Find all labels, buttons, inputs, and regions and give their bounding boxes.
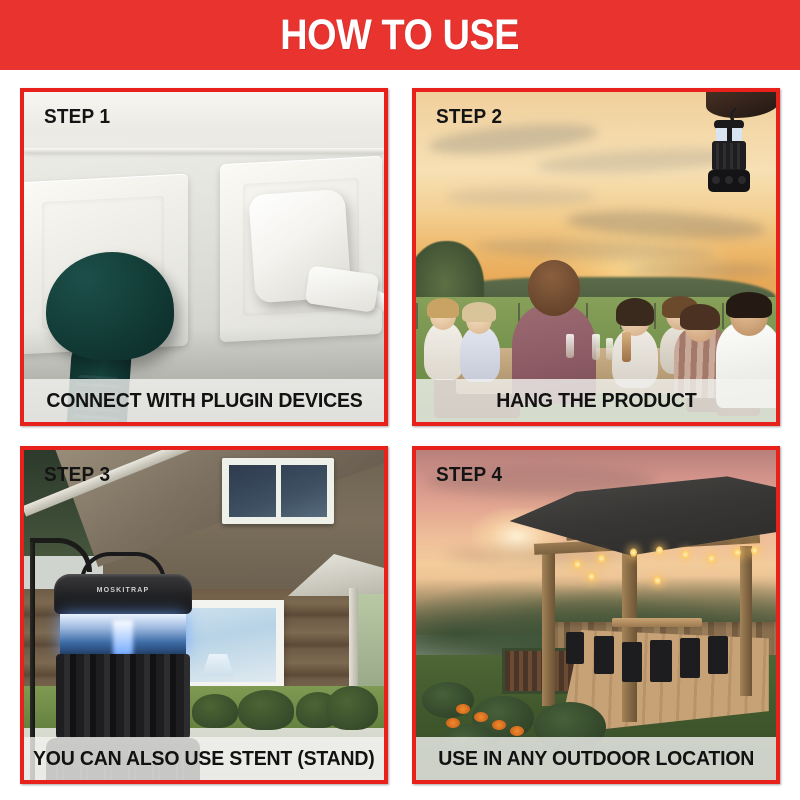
step-3-image: MOSKITRAP [24, 450, 384, 780]
string-light [682, 550, 689, 559]
string-light [751, 546, 758, 555]
bottle [592, 334, 600, 360]
cloud [446, 188, 596, 206]
step-4-image [416, 450, 776, 780]
page-title: HOW TO USE [281, 11, 520, 60]
bottle [566, 334, 574, 358]
flower [456, 704, 470, 714]
bar-stool [650, 640, 672, 682]
infographic-page: HOW TO USE STEP [0, 0, 800, 800]
string-light [588, 572, 595, 581]
string-light [734, 548, 741, 557]
step-3-caption-band: YOU CAN ALSO USE STENT (STAND) [24, 737, 384, 780]
string-light [630, 548, 637, 557]
bar-stool [622, 642, 642, 682]
step-panel-4[interactable]: STEP 4 USE IN ANY OUTDOOR LOCATION [412, 446, 780, 784]
step-4-caption: USE IN ANY OUTDOOR LOCATION [438, 747, 754, 771]
flower [474, 712, 488, 722]
device-body-grille [56, 654, 190, 742]
step-1-label: STEP 1 [44, 106, 110, 129]
string-light [654, 576, 661, 585]
flower [492, 720, 506, 730]
bar-stool [566, 632, 584, 664]
green-plug [46, 252, 174, 360]
person [460, 326, 500, 382]
person [424, 322, 464, 380]
step-1-caption-band: CONNECT WITH PLUGIN DEVICES [24, 379, 384, 422]
person-hair [616, 298, 654, 326]
bar-stool [594, 636, 614, 674]
step-2-label: STEP 2 [436, 106, 502, 129]
uv-lamp-glow [60, 614, 186, 654]
bar-stool [708, 636, 728, 674]
person-hair [462, 302, 496, 322]
bar-table [612, 618, 702, 627]
step-3-caption: YOU CAN ALSO USE STENT (STAND) [33, 747, 375, 771]
bottle [622, 332, 631, 362]
flower [446, 718, 460, 728]
page-header: HOW TO USE [0, 0, 800, 70]
step-panel-2[interactable]: STEP 2 HANG THE PRODUCT [412, 88, 780, 426]
pergola-post [740, 546, 752, 696]
step-1-image [24, 92, 384, 422]
person-hair [427, 298, 459, 318]
person-hair [680, 304, 720, 330]
wall-edge-trim [24, 148, 384, 153]
step-2-image [416, 92, 776, 422]
step-1-caption: CONNECT WITH PLUGIN DEVICES [46, 389, 362, 413]
step-4-label: STEP 4 [436, 464, 502, 487]
person-head [528, 260, 580, 316]
step-2-caption: HANG THE PRODUCT [496, 389, 696, 413]
device-cap: MOSKITRAP [54, 574, 192, 614]
hanging-bug-zapper-icon [702, 106, 758, 198]
cabin-porch [292, 554, 384, 704]
pergola-post [622, 538, 637, 722]
pergola-post [542, 546, 555, 706]
step-3-label: STEP 3 [44, 464, 110, 487]
step-panel-3[interactable]: MOSKITRAP STEP 3 YOU CAN ALSO USE STENT … [20, 446, 388, 784]
shrub [326, 686, 378, 730]
step-4-caption-band: USE IN ANY OUTDOOR LOCATION [416, 737, 776, 780]
string-light [598, 554, 605, 563]
step-2-caption-band: HANG THE PRODUCT [416, 379, 776, 422]
steps-grid: STEP 1 CONNECT WITH PLUGIN DEVICES [20, 88, 780, 784]
shrub [238, 690, 294, 730]
string-light [574, 560, 581, 569]
bottle [606, 338, 613, 360]
bar-stool [680, 638, 700, 678]
flower [510, 726, 524, 736]
cabin-upper-window [222, 458, 334, 524]
string-light [656, 546, 663, 555]
cloud [626, 262, 776, 278]
device-brand-label: MOSKITRAP [54, 587, 192, 594]
string-light [708, 554, 715, 563]
person-hair [726, 292, 772, 318]
lamp-silhouette [202, 654, 234, 676]
porch-roof [288, 554, 384, 596]
step-panel-1[interactable]: STEP 1 CONNECT WITH PLUGIN DEVICES [20, 88, 388, 426]
